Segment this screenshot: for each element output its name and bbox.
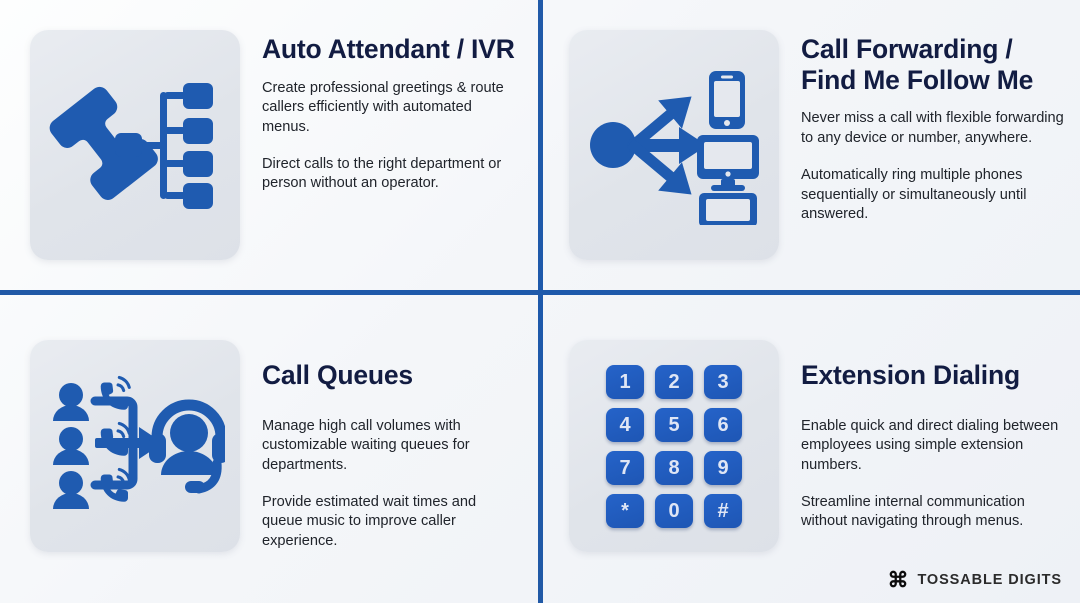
- text-column: Extension Dialing Enable quick and direc…: [779, 340, 1070, 532]
- feature-card-auto-attendant-ivr: Auto Attendant / IVR Create professional…: [0, 0, 538, 290]
- card-paragraph: Automatically ring multiple phones seque…: [801, 166, 1070, 224]
- card-paragraph: Never miss a call with flexible forwardi…: [801, 109, 1070, 148]
- keypad-key-star[interactable]: *: [606, 494, 644, 528]
- call-forwarding-devices-icon: [585, 65, 763, 225]
- brand-wordmark: TOSSABLE DIGITS: [917, 573, 1062, 588]
- command-mark-icon: ⌘: [887, 570, 908, 591]
- card-title: Call Forwarding / Find Me Follow Me: [801, 34, 1070, 95]
- keypad-key-1[interactable]: 1: [606, 365, 644, 399]
- keypad-key-9[interactable]: 9: [704, 451, 742, 485]
- text-column: Call Queues Manage high call volumes wit…: [240, 340, 516, 551]
- icon-card-call-forwarding: [569, 30, 779, 260]
- keypad-key-hash[interactable]: #: [704, 494, 742, 528]
- card-paragraph: Enable quick and direct dialing between …: [801, 417, 1070, 475]
- dial-keypad-icon: 123456789*0#: [606, 365, 742, 528]
- card-paragraph: Streamline internal communication withou…: [801, 493, 1070, 532]
- keypad-key-5[interactable]: 5: [655, 408, 693, 442]
- feature-card-call-forwarding: Call Forwarding / Find Me Follow Me Neve…: [543, 0, 1080, 290]
- keypad-key-6[interactable]: 6: [704, 408, 742, 442]
- keypad-key-4[interactable]: 4: [606, 408, 644, 442]
- keypad-key-8[interactable]: 8: [655, 451, 693, 485]
- horizontal-divider: [0, 290, 1080, 295]
- text-column: Call Forwarding / Find Me Follow Me Neve…: [779, 30, 1070, 225]
- text-column: Auto Attendant / IVR Create professional…: [240, 30, 516, 194]
- brand-logo: ⌘ TOSSABLE DIGITS: [887, 570, 1062, 591]
- keypad-key-7[interactable]: 7: [606, 451, 644, 485]
- vertical-divider: [538, 0, 543, 603]
- feature-card-call-queues: Call Queues Manage high call volumes wit…: [0, 295, 538, 603]
- card-title: Extension Dialing: [801, 360, 1070, 391]
- icon-card-auto-attendant: [30, 30, 240, 260]
- card-paragraph: Manage high call volumes with customizab…: [262, 417, 516, 475]
- infographic-board: Auto Attendant / IVR Create professional…: [0, 0, 1080, 603]
- card-paragraph: Create professional greetings & route ca…: [262, 79, 516, 137]
- card-title: Auto Attendant / IVR: [262, 34, 516, 65]
- card-paragraph: Provide estimated wait times and queue m…: [262, 493, 516, 551]
- call-queue-agent-icon: [45, 371, 225, 521]
- keypad-key-0[interactable]: 0: [655, 494, 693, 528]
- icon-card-extension-dialing: 123456789*0#: [569, 340, 779, 552]
- feature-card-extension-dialing: 123456789*0# Extension Dialing Enable qu…: [543, 295, 1080, 603]
- icon-card-call-queues: [30, 340, 240, 552]
- keypad-key-2[interactable]: 2: [655, 365, 693, 399]
- keypad-key-3[interactable]: 3: [704, 365, 742, 399]
- card-title: Call Queues: [262, 360, 516, 391]
- card-paragraph: Direct calls to the right department or …: [262, 155, 516, 194]
- phone-ivr-tree-icon: [47, 70, 223, 220]
